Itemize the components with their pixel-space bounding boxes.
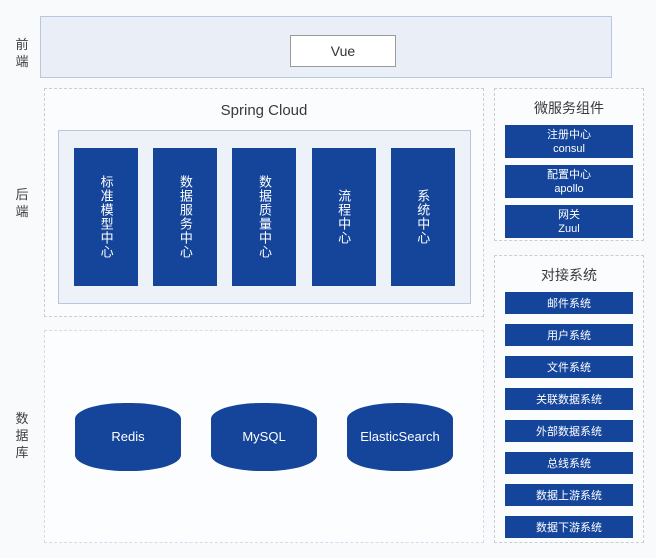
docking-item[interactable]: 数据下游系统 xyxy=(505,516,633,538)
microservice-item-label-en: apollo xyxy=(554,182,583,196)
row-label-frontend: 前 端 xyxy=(8,36,36,70)
microservice-item-label-cn: 注册中心 xyxy=(547,128,591,142)
row-label-database: 数 据 库 xyxy=(8,410,36,461)
row-label-database-char-2: 据 xyxy=(8,427,36,444)
spring-cloud-panel: Spring Cloud 标准模型中心 数据服务中心 数据质量中心 流程中心 系… xyxy=(44,88,484,317)
service-pillar-label: 数据质量中心 xyxy=(255,175,274,259)
microservice-item-label-en: Zuul xyxy=(558,222,579,236)
microservice-item-config[interactable]: 配置中心 apollo xyxy=(505,165,633,198)
docking-systems-title: 对接系统 xyxy=(495,265,643,285)
microservice-item-label-en: consul xyxy=(553,142,585,156)
database-cylinder-mysql[interactable]: MySQL xyxy=(211,403,317,471)
microservice-item-registry[interactable]: 注册中心 consul xyxy=(505,125,633,158)
microservice-item-label-cn: 配置中心 xyxy=(547,168,591,182)
service-pillar[interactable]: 数据服务中心 xyxy=(153,148,217,286)
vue-node[interactable]: Vue xyxy=(290,35,396,67)
row-label-backend-char-1: 后 xyxy=(8,186,36,203)
database-cylinder-redis[interactable]: Redis xyxy=(75,403,181,471)
microservice-item-gateway[interactable]: 网关 Zuul xyxy=(505,205,633,238)
service-pillar-group: 标准模型中心 数据服务中心 数据质量中心 流程中心 系统中心 xyxy=(59,131,470,303)
service-pillar[interactable]: 标准模型中心 xyxy=(74,148,138,286)
docking-item[interactable]: 数据上游系统 xyxy=(505,484,633,506)
row-label-database-char-1: 数 xyxy=(8,410,36,427)
spring-cloud-inner-box: 标准模型中心 数据服务中心 数据质量中心 流程中心 系统中心 xyxy=(58,130,471,304)
docking-item[interactable]: 文件系统 xyxy=(505,356,633,378)
row-label-backend: 后 端 xyxy=(8,186,36,220)
docking-item[interactable]: 总线系统 xyxy=(505,452,633,474)
service-pillar-label: 标准模型中心 xyxy=(97,175,116,259)
frontend-band: Vue xyxy=(40,16,612,78)
database-cylinder-elasticsearch[interactable]: ElasticSearch xyxy=(347,403,453,471)
architecture-diagram: 前 端 后 端 数 据 库 Vue Spring Cloud 标准模型中心 数据… xyxy=(0,0,656,558)
microservice-components-title: 微服务组件 xyxy=(495,98,643,118)
microservice-components-list: 注册中心 consul 配置中心 apollo 网关 Zuul xyxy=(495,125,643,238)
database-store-group: Redis MySQL ElasticSearch xyxy=(45,331,483,542)
docking-item[interactable]: 用户系统 xyxy=(505,324,633,346)
spring-cloud-title: Spring Cloud xyxy=(45,102,483,119)
service-pillar-label: 流程中心 xyxy=(334,189,353,245)
row-label-frontend-char-2: 端 xyxy=(8,53,36,70)
row-label-database-char-3: 库 xyxy=(8,444,36,461)
docking-item[interactable]: 邮件系统 xyxy=(505,292,633,314)
service-pillar-label: 系统中心 xyxy=(413,189,432,245)
microservice-components-panel: 微服务组件 注册中心 consul 配置中心 apollo 网关 Zuul xyxy=(494,88,644,241)
service-pillar[interactable]: 数据质量中心 xyxy=(232,148,296,286)
microservice-item-label-cn: 网关 xyxy=(558,208,580,222)
docking-systems-panel: 对接系统 邮件系统 用户系统 文件系统 关联数据系统 外部数据系统 总线系统 数… xyxy=(494,255,644,543)
row-label-backend-char-2: 端 xyxy=(8,203,36,220)
service-pillar[interactable]: 系统中心 xyxy=(391,148,455,286)
docking-item[interactable]: 关联数据系统 xyxy=(505,388,633,410)
docking-systems-list: 邮件系统 用户系统 文件系统 关联数据系统 外部数据系统 总线系统 数据上游系统… xyxy=(495,292,643,538)
row-label-frontend-char-1: 前 xyxy=(8,36,36,53)
service-pillar[interactable]: 流程中心 xyxy=(312,148,376,286)
docking-item[interactable]: 外部数据系统 xyxy=(505,420,633,442)
service-pillar-label: 数据服务中心 xyxy=(176,175,195,259)
database-panel: Redis MySQL ElasticSearch xyxy=(44,330,484,543)
